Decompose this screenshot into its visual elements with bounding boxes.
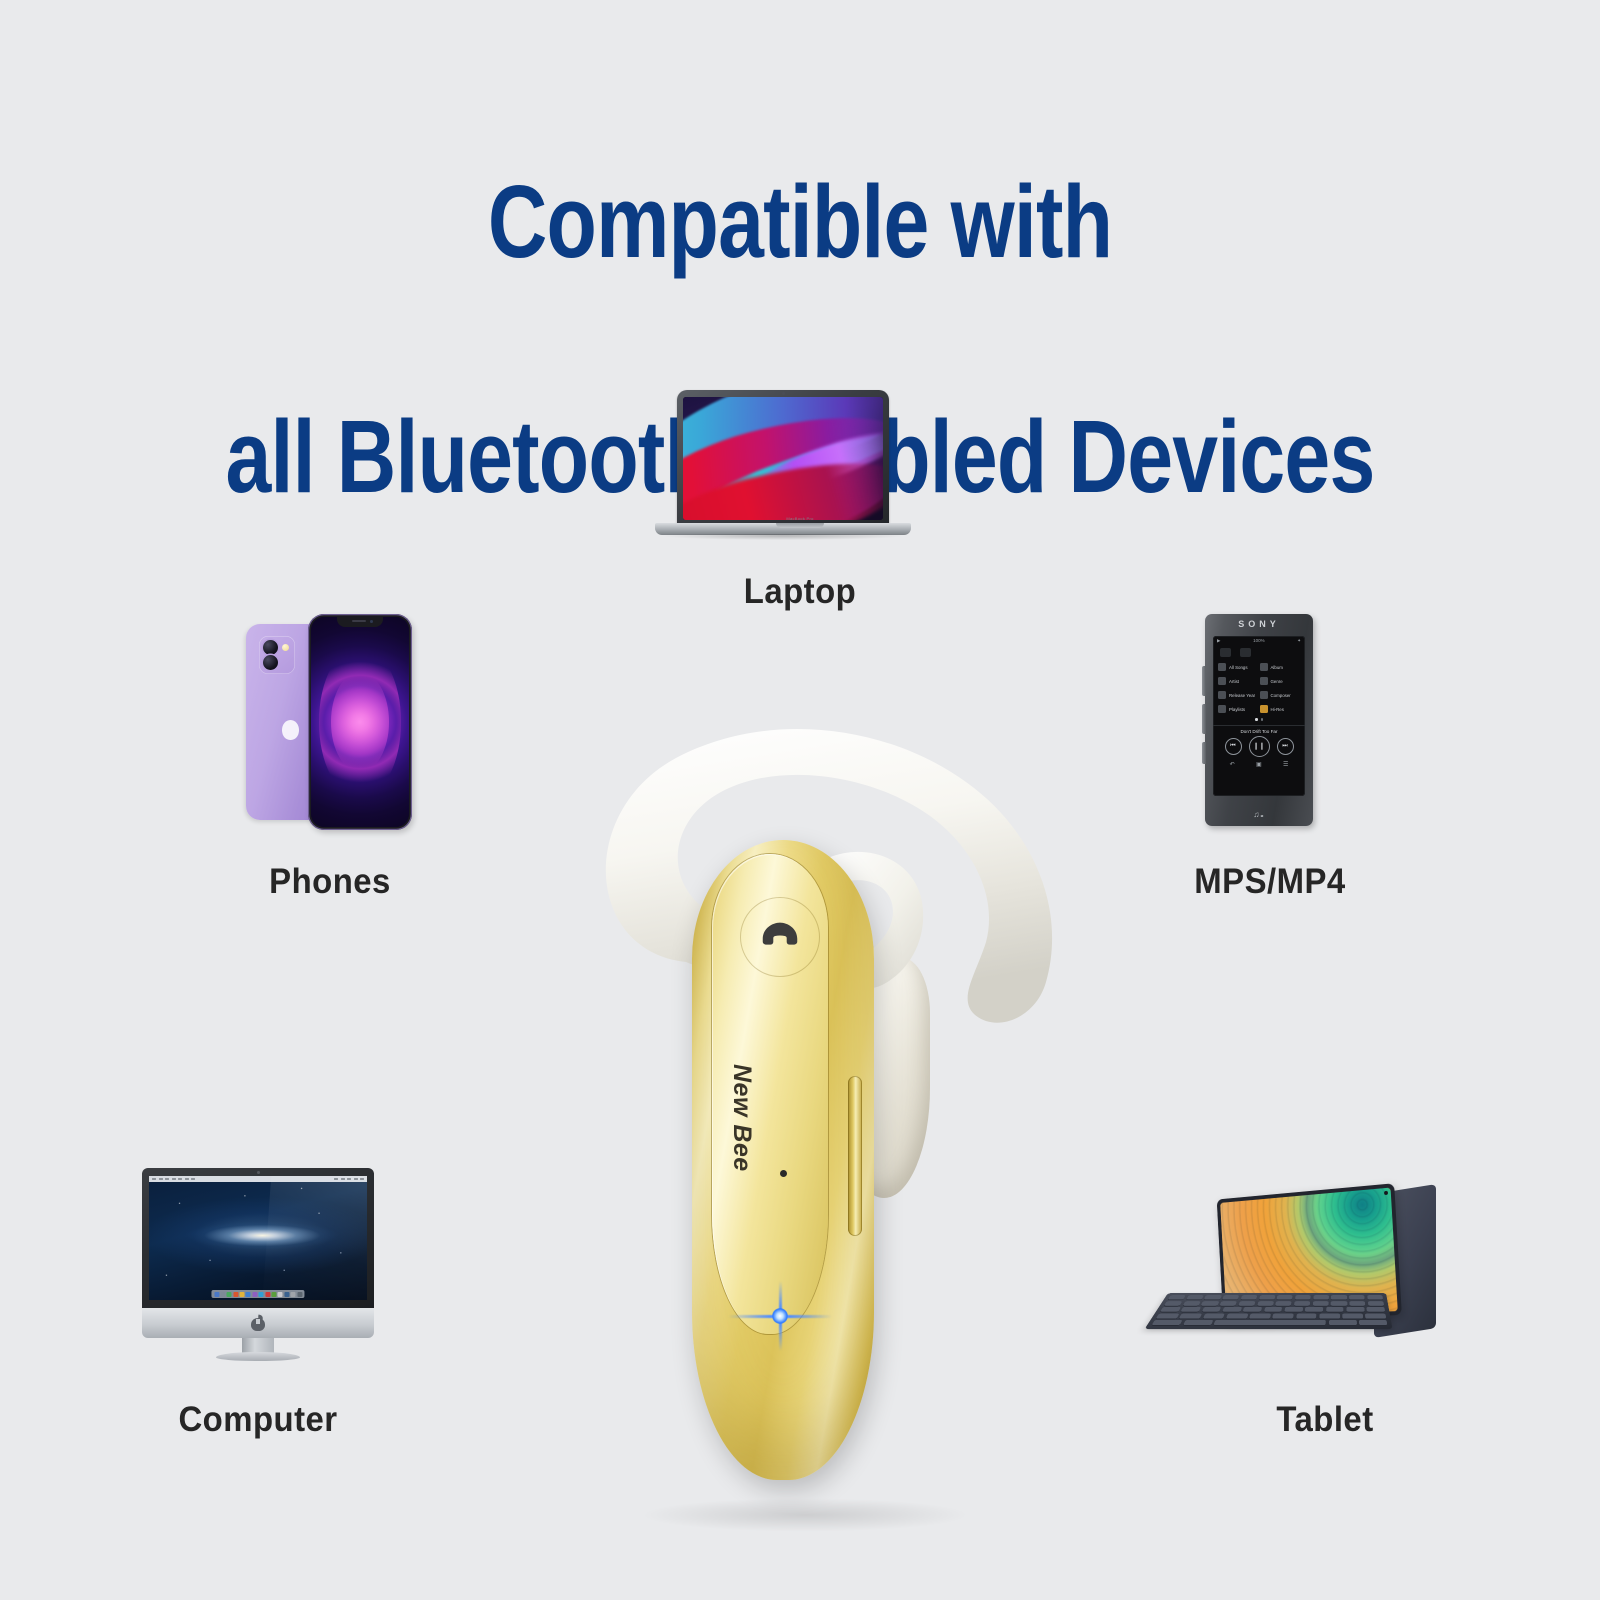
battery-label: 100% <box>1253 638 1265 643</box>
menu-item-album[interactable]: Album <box>1260 663 1302 671</box>
player-screen: ▶ 100% ✦ All Songs Album Artist Genre Re… <box>1213 636 1305 796</box>
radio-icon[interactable] <box>1220 648 1231 657</box>
computer-stand-base <box>216 1352 300 1361</box>
walkman-logo: ♫𝅝 <box>1205 810 1313 820</box>
menu-item-genre[interactable]: Genre <box>1260 677 1302 685</box>
device-label-mp3: MPS/MP4 <box>1148 862 1392 902</box>
page-indicator <box>1213 713 1305 721</box>
phone-notch <box>337 617 383 627</box>
library-icon[interactable]: ▣ <box>1256 761 1262 768</box>
menu-label: Playlists <box>1229 707 1245 712</box>
laptop-screen <box>683 397 883 520</box>
next-track-icon[interactable]: ⏭ <box>1277 738 1294 755</box>
laptop-shadow <box>663 534 903 540</box>
smartphone-icon <box>308 614 412 830</box>
menu-item-all-songs[interactable]: All Songs <box>1218 663 1260 671</box>
product-shadow <box>640 1498 970 1532</box>
player-transport-controls: ⏮ ❙❙ ⏭ <box>1213 736 1305 759</box>
device-mp3-player: SONY ▶ 100% ✦ All Songs Album Artist Gen… <box>1205 614 1327 834</box>
device-label-laptop: Laptop <box>664 572 937 612</box>
product-bluetooth-headset: New Bee <box>540 640 1100 1540</box>
camera-flash-icon <box>282 644 289 651</box>
music-player-icon: SONY ▶ 100% ✦ All Songs Album Artist Gen… <box>1205 614 1313 826</box>
menu-item-composer[interactable]: Composer <box>1260 691 1302 699</box>
player-side-button[interactable] <box>1202 704 1206 734</box>
apple-logo-icon <box>251 1315 265 1331</box>
play-indicator-icon: ▶ <box>1217 638 1220 644</box>
laptop-notch <box>776 523 824 528</box>
phone-wallpaper <box>311 617 409 827</box>
computer-screen <box>149 1176 367 1300</box>
device-laptop: MacBook Pro <box>655 390 945 555</box>
player-status-bar: ▶ 100% ✦ <box>1213 636 1305 645</box>
device-tablet <box>1168 1175 1438 1365</box>
menu-label: Hi-Res <box>1271 707 1284 712</box>
headset-face-panel: New Bee <box>712 854 828 1334</box>
computer-camera-icon <box>257 1171 260 1174</box>
previous-track-icon[interactable]: ⏮ <box>1225 738 1242 755</box>
brand-name-text: New Bee <box>727 1064 756 1172</box>
laptop-camera-icon <box>782 392 785 395</box>
laptop-model-text: MacBook Pro <box>786 516 813 521</box>
podcast-icon[interactable] <box>1240 648 1251 657</box>
now-playing-title: Don't Drift Too Far <box>1213 726 1305 736</box>
player-menu-grid: All Songs Album Artist Genre Release Yea… <box>1213 659 1305 713</box>
phone-camera-module <box>259 636 295 674</box>
device-label-tablet: Tablet <box>1203 1400 1447 1440</box>
menu-item-release-year[interactable]: Release Year <box>1218 691 1260 699</box>
phone-speaker-icon <box>352 620 366 622</box>
device-label-computer: Computer <box>136 1400 380 1440</box>
screen-glare <box>262 1176 367 1300</box>
device-computer <box>128 1168 388 1368</box>
computer-chin <box>142 1308 374 1338</box>
volume-side-button[interactable] <box>848 1076 862 1236</box>
tablet-keyboard[interactable] <box>1144 1293 1392 1329</box>
menu-label: Artist <box>1229 679 1239 684</box>
menu-item-hi-res[interactable]: Hi-Res <box>1260 705 1302 713</box>
player-brand-text: SONY <box>1205 619 1313 629</box>
device-label-phones: Phones <box>236 862 424 902</box>
laptop-wallpaper <box>683 397 883 520</box>
menu-label: Genre <box>1271 679 1283 684</box>
infographic-canvas: Compatible with all Bluetooth-enabled De… <box>0 0 1600 1600</box>
menu-label: Release Year <box>1229 693 1255 698</box>
microphone-hole-icon <box>780 1170 787 1177</box>
computer-menu-bar <box>149 1176 367 1182</box>
call-button[interactable] <box>741 898 819 976</box>
computer-dock <box>211 1290 304 1298</box>
device-phones <box>240 610 420 840</box>
back-icon[interactable]: ↶ <box>1230 761 1235 768</box>
menu-label: Composer <box>1271 693 1291 698</box>
phone-front-camera-icon <box>370 620 373 623</box>
laptop-icon <box>677 390 889 529</box>
menu-item-artist[interactable]: Artist <box>1218 677 1260 685</box>
player-side-button[interactable] <box>1202 666 1206 696</box>
menu-label: Album <box>1271 665 1283 670</box>
phone-handset-icon <box>757 914 803 960</box>
camera-lens-icon <box>263 655 278 670</box>
player-side-button[interactable] <box>1202 742 1206 764</box>
bluetooth-icon: ✦ <box>1297 638 1301 644</box>
headset-body: New Bee <box>692 840 874 1480</box>
player-soft-keys: ↶ ▣ ☰ <box>1213 759 1305 768</box>
options-icon[interactable]: ☰ <box>1283 761 1288 768</box>
title-line-1: Compatible with <box>160 163 1440 280</box>
pause-icon[interactable]: ❙❙ <box>1249 736 1270 757</box>
desktop-computer-icon <box>142 1168 374 1308</box>
menu-item-playlists[interactable]: Playlists <box>1218 705 1260 713</box>
menu-label: All Songs <box>1229 665 1248 670</box>
phone-logo <box>282 720 299 740</box>
player-quick-icons <box>1213 645 1305 659</box>
phone-screen <box>311 617 409 827</box>
camera-lens-icon <box>263 640 278 655</box>
